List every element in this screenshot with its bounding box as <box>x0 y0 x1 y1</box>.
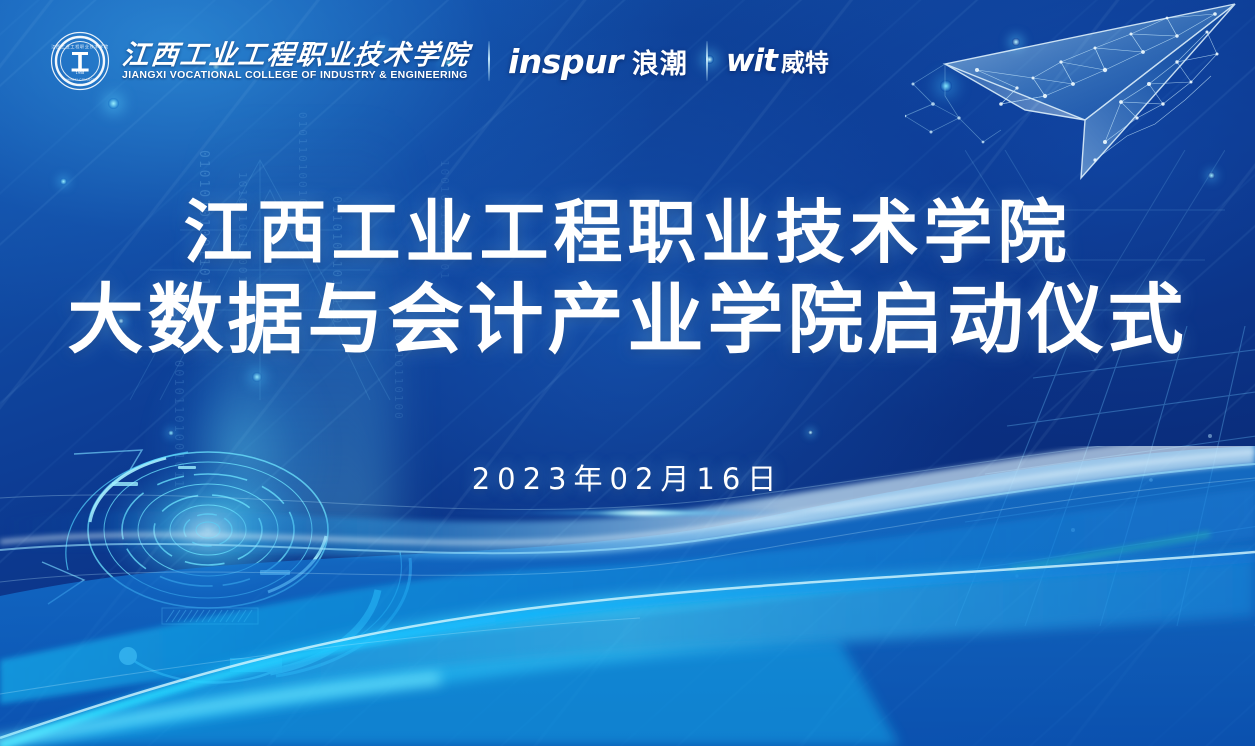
college-name-block: 江西工业工程职业技术学院 JIANGXI VOCATIONAL COLLEGE … <box>122 41 470 81</box>
inspur-cjk-wordmark: 浪潮 <box>632 42 688 81</box>
college-crest-icon: 江西工业工程职业技术学院 JIANGXI COLLEGE 1958 <box>50 31 110 91</box>
logo-divider-2 <box>706 41 708 81</box>
college-name-cn: 江西工业工程职业技术学院 <box>121 41 472 69</box>
college-logo: 江西工业工程职业技术学院 JIANGXI COLLEGE 1958 江西工业工程… <box>50 31 470 91</box>
event-date: 2023年02月16日 <box>0 456 1255 498</box>
wit-latin-wordmark: wit <box>726 43 777 79</box>
header-logo-bar: 江西工业工程职业技术学院 JIANGXI COLLEGE 1958 江西工业工程… <box>50 28 829 94</box>
svg-text:JIANGXI COLLEGE: JIANGXI COLLEGE <box>64 78 96 82</box>
college-name-en: JIANGXI VOCATIONAL COLLEGE OF INDUSTRY &… <box>122 70 470 81</box>
inspur-latin-wordmark: inspur <box>508 42 623 81</box>
logo-divider-1 <box>488 41 490 81</box>
partner-logo-inspur: inspur 浪潮 <box>508 42 688 81</box>
svg-text:1958: 1958 <box>76 71 85 75</box>
partner-logo-wit: wit 威特 <box>726 43 829 79</box>
title-block: 江西工业工程职业技术学院 大数据与会计产业学院启动仪式 <box>0 196 1255 362</box>
title-line-2: 大数据与会计产业学院启动仪式 <box>0 277 1255 362</box>
title-line-1: 江西工业工程职业技术学院 <box>0 196 1255 271</box>
event-poster: 01010101001101 10100101110010 0110100101… <box>0 0 1255 746</box>
svg-text:江西工业工程职业技术学院: 江西工业工程职业技术学院 <box>51 43 109 50</box>
wit-cjk-wordmark: 威特 <box>781 43 829 78</box>
